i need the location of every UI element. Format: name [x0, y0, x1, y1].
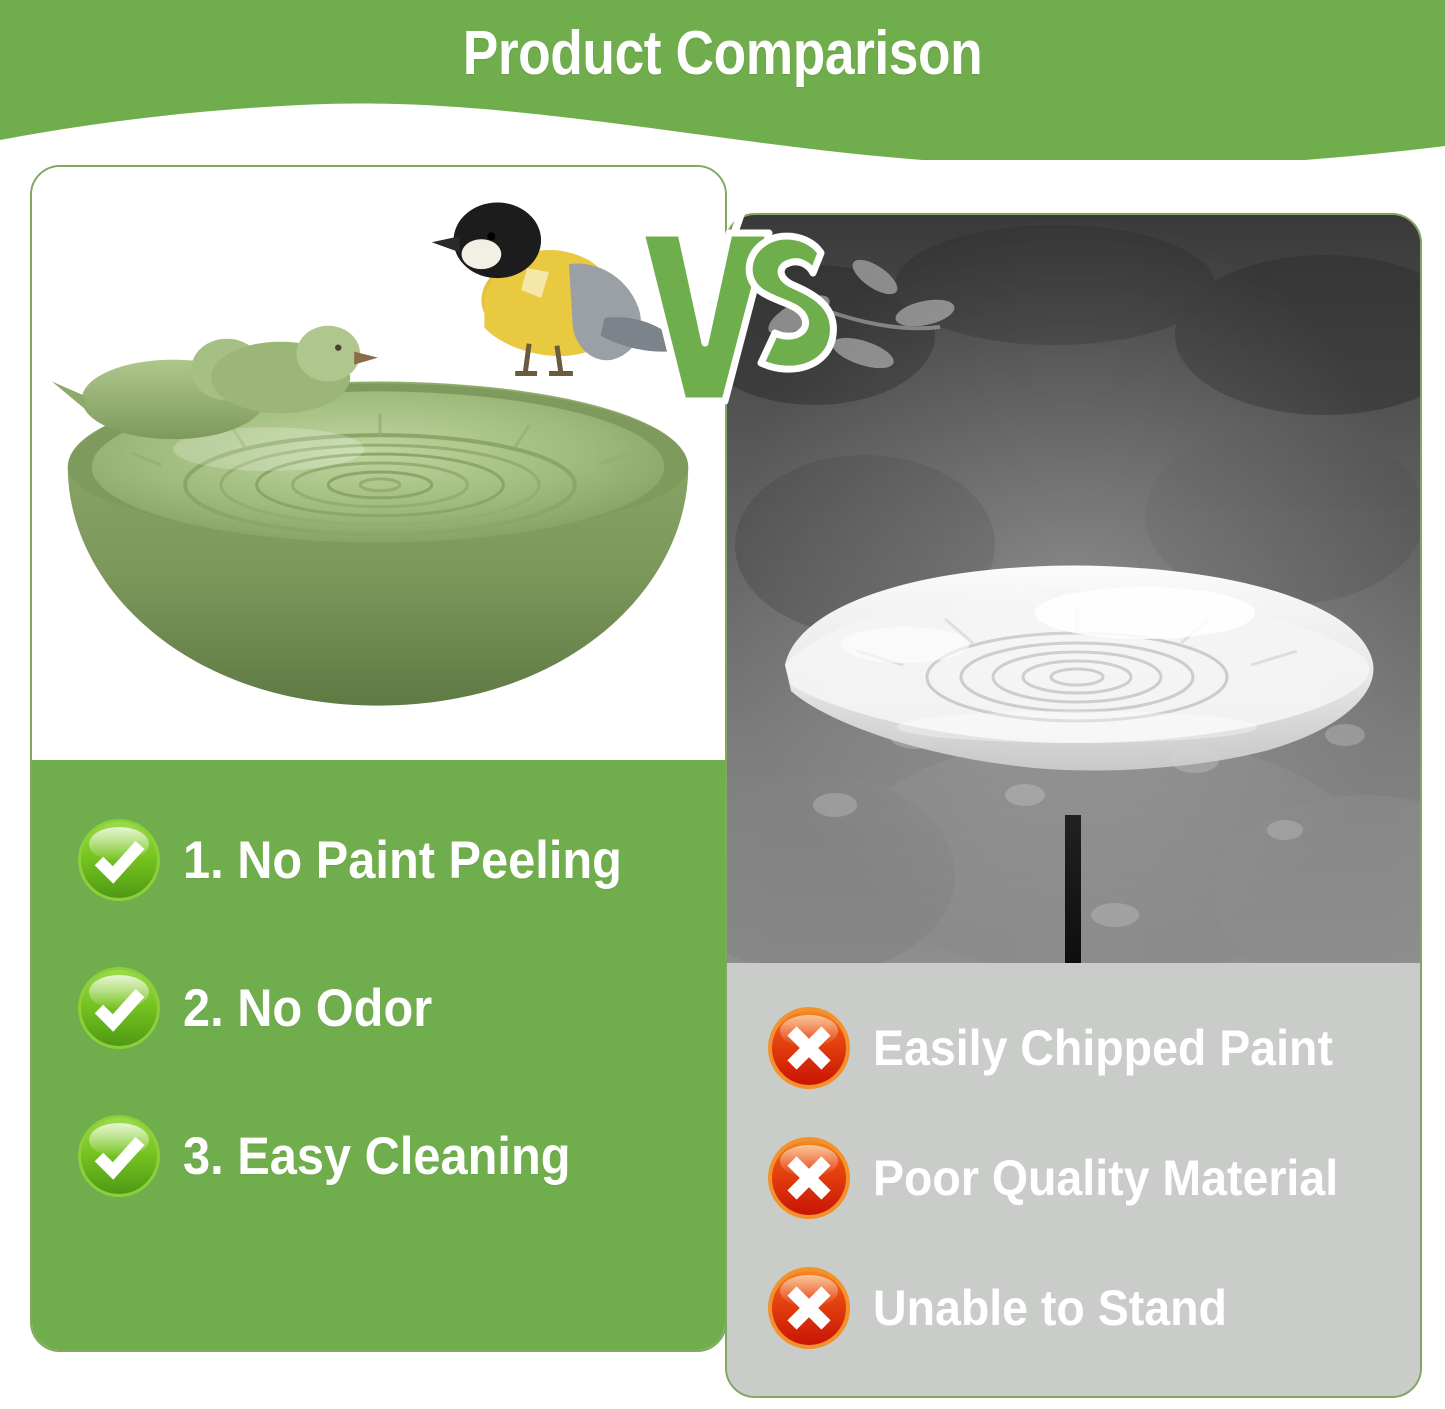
list-item[interactable]: Unable to Stand: [727, 1243, 1420, 1373]
list-item[interactable]: 3. Easy Cleaning: [32, 1082, 725, 1230]
ceramic-birdbath-illustration: [32, 167, 725, 760]
list-item-label: Easily Chipped Paint: [873, 1019, 1333, 1077]
list-item[interactable]: Easily Chipped Paint: [727, 983, 1420, 1113]
x-circle-icon: [767, 1266, 851, 1350]
list-item-label: 3. Easy Cleaning: [183, 1126, 571, 1187]
left-product-card: 1. No Paint Peeling 2. No Odor: [30, 165, 727, 1352]
check-circle-icon: [77, 1114, 161, 1198]
list-item[interactable]: 1. No Paint Peeling: [32, 786, 725, 934]
list-item-label: Poor Quality Material: [873, 1149, 1338, 1207]
right-product-photo: [727, 215, 1420, 963]
x-circle-icon: [767, 1006, 851, 1090]
right-product-card: Easily Chipped Paint Poor Quality Materi…: [725, 213, 1422, 1398]
check-circle-icon: [77, 818, 161, 902]
left-pros-list: 1. No Paint Peeling 2. No Odor: [32, 760, 725, 1350]
left-product-photo: [32, 167, 725, 760]
list-item[interactable]: 2. No Odor: [32, 934, 725, 1082]
list-item-label: 1. No Paint Peeling: [183, 830, 622, 891]
list-item[interactable]: Poor Quality Material: [727, 1113, 1420, 1243]
list-item-label: 2. No Odor: [183, 978, 432, 1039]
right-cons-list: Easily Chipped Paint Poor Quality Materi…: [727, 963, 1420, 1396]
list-item-label: Unable to Stand: [873, 1279, 1227, 1337]
page-title: Product Comparison: [101, 18, 1344, 89]
check-circle-icon: [77, 966, 161, 1050]
glass-birdbath-photo-illustration: [727, 215, 1420, 963]
x-circle-icon: [767, 1136, 851, 1220]
header-band: Product Comparison: [0, 0, 1445, 160]
